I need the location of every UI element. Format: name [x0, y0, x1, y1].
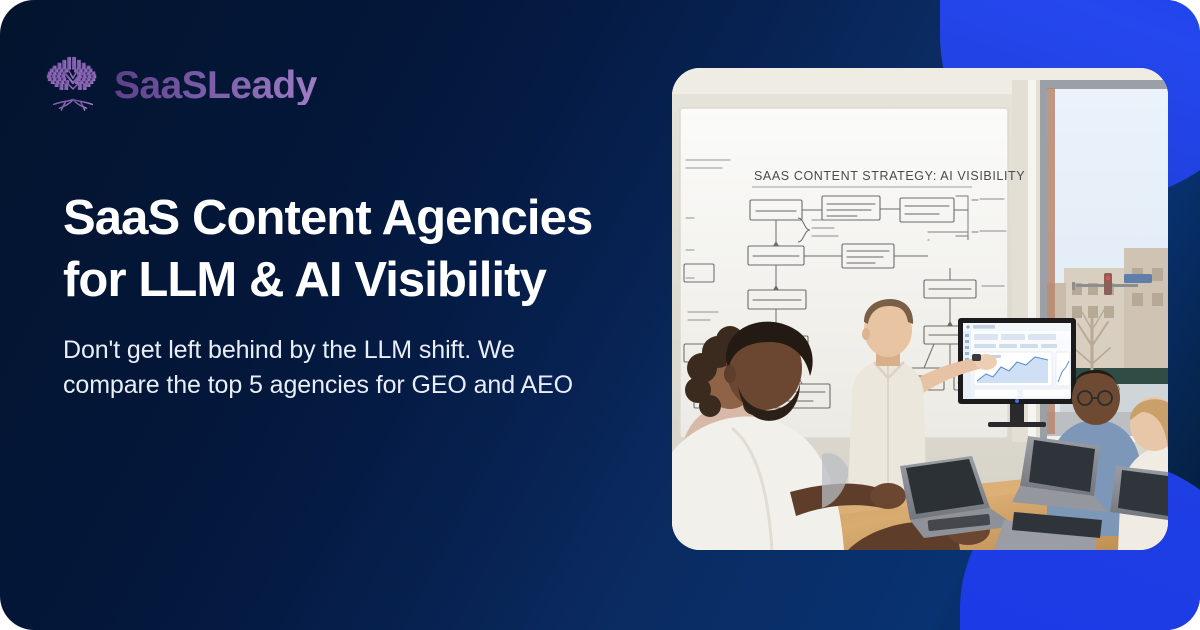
tree-with-roots-icon — [42, 54, 104, 116]
brand-name: SaaSLeady — [114, 66, 317, 105]
social-share-card: SaaSLeady SaaS Content Agencies for LLM … — [0, 0, 1200, 630]
page-title: SaaS Content Agencies for LLM & AI Visib… — [63, 188, 663, 311]
hero-copy: SaaS Content Agencies for LLM & AI Visib… — [63, 188, 663, 402]
headline-line-2: for LLM & AI Visibility — [63, 253, 546, 307]
subtitle-line-2: compare the top 5 agencies for GEO and A… — [63, 371, 573, 399]
whiteboard-title: SAAS CONTENT STRATEGY: AI VISIBILITY — [754, 169, 1025, 183]
conference-room-illustration: SAAS CONTENT STRATEGY: AI VISIBILITY — [672, 68, 1168, 550]
laptop-far-right — [1110, 466, 1168, 520]
subtitle-line-1: Don't get left behind by the LLM shift. … — [63, 336, 515, 364]
laptop-right — [1012, 436, 1108, 512]
headline-line-1: SaaS Content Agencies — [63, 191, 592, 245]
page-subtitle: Don't get left behind by the LLM shift. … — [63, 333, 663, 402]
hero-photo: SAAS CONTENT STRATEGY: AI VISIBILITY — [672, 68, 1168, 550]
brand-logo[interactable]: SaaSLeady — [42, 54, 317, 116]
